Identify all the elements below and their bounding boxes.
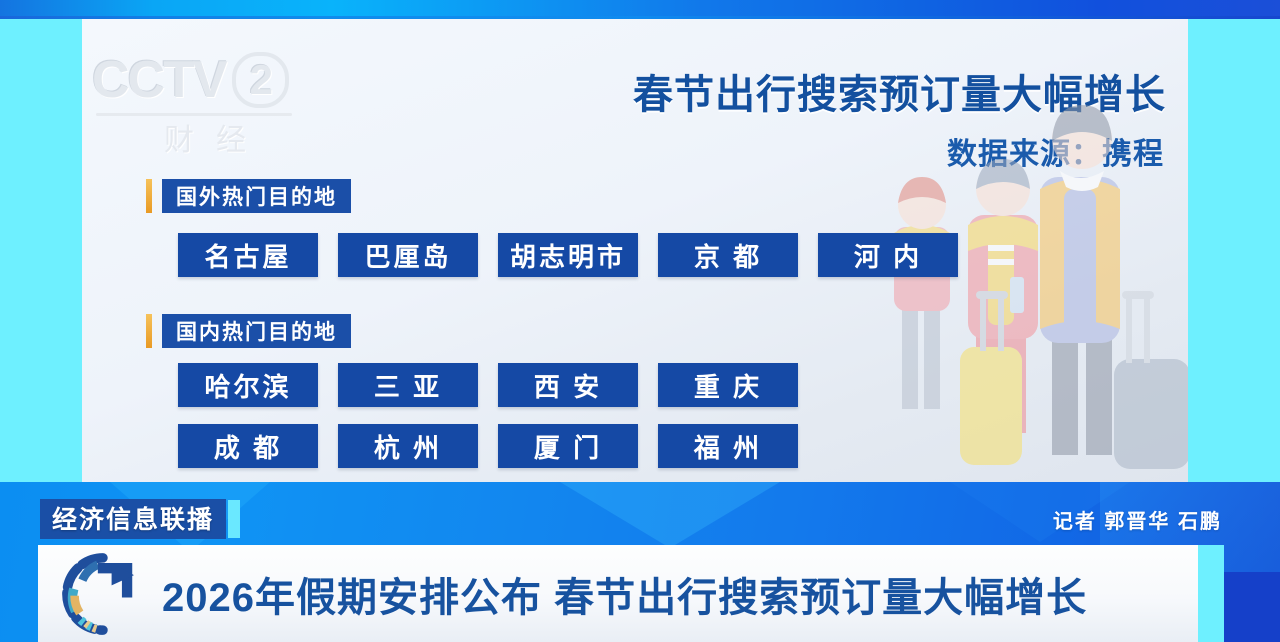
destination-row-foreign: 名古屋 巴厘岛 胡志明市 京 都 河 内 [178, 233, 958, 277]
destination-chip[interactable]: 西 安 [498, 363, 638, 407]
band-facet [560, 482, 780, 548]
cctv-logo-number: 2 [232, 52, 289, 108]
destination-chip[interactable]: 胡志明市 [498, 233, 638, 277]
left-cyan-band [0, 19, 82, 482]
cctv-logo-text: CCTV [92, 50, 226, 110]
accent-bar-icon [146, 179, 152, 213]
grey-suitcase [1114, 291, 1188, 469]
destination-chip[interactable]: 杭 州 [338, 424, 478, 468]
destination-chip[interactable]: 成 都 [178, 424, 318, 468]
right-cyan-band [1188, 19, 1280, 482]
section-label-domestic: 国内热门目的地 [162, 314, 351, 348]
content-card: CCTV 2 财经 春节出行搜索预订量大幅增长 数据来源：携程 [82, 19, 1188, 482]
destination-row-domestic-1: 哈尔滨 三 亚 西 安 重 庆 [178, 363, 798, 407]
section-header-domestic: 国内热门目的地 [146, 314, 351, 348]
cctv-channel-logo: CCTV 2 财经 [92, 49, 312, 159]
section-label-foreign: 国外热门目的地 [162, 179, 351, 213]
top-blue-strip [0, 0, 1280, 19]
program-name-label: 经济信息联播 [40, 499, 226, 539]
destination-chip[interactable]: 河 内 [818, 233, 958, 277]
ticker-headline: 2026年假期安排公布 春节出行搜索预订量大幅增长 [162, 565, 1087, 623]
ticker-blue-corner [1224, 572, 1280, 642]
man-figure [1040, 105, 1120, 455]
destination-chip[interactable]: 巴厘岛 [338, 233, 478, 277]
child-figure [894, 177, 950, 409]
program-name-badge: 经济信息联播 [40, 500, 240, 538]
broadcast-screen: CCTV 2 财经 春节出行搜索预订量大幅增长 数据来源：携程 [0, 0, 1280, 642]
destination-chip[interactable]: 厦 门 [498, 424, 638, 468]
destination-chip[interactable]: 三 亚 [338, 363, 478, 407]
destination-chip[interactable]: 哈尔滨 [178, 363, 318, 407]
cctv-finance-circle-icon [60, 551, 146, 637]
section-header-foreign: 国外热门目的地 [146, 179, 351, 213]
destination-chip[interactable]: 京 都 [658, 233, 798, 277]
reporter-credit: 记者 郭晋华 石鹏 [1053, 505, 1222, 534]
destination-chip[interactable]: 名古屋 [178, 233, 318, 277]
program-accent-bar [228, 500, 240, 538]
destination-chip[interactable]: 重 庆 [658, 363, 798, 407]
accent-bar-icon [146, 314, 152, 348]
news-ticker: 2026年假期安排公布 春节出行搜索预订量大幅增长 [38, 545, 1218, 642]
ticker-cyan-cap [1198, 545, 1224, 642]
cctv-logo-subtitle: 财经 [164, 115, 268, 159]
destination-row-domestic-2: 成 都 杭 州 厦 门 福 州 [178, 424, 798, 468]
destination-chip[interactable]: 福 州 [658, 424, 798, 468]
